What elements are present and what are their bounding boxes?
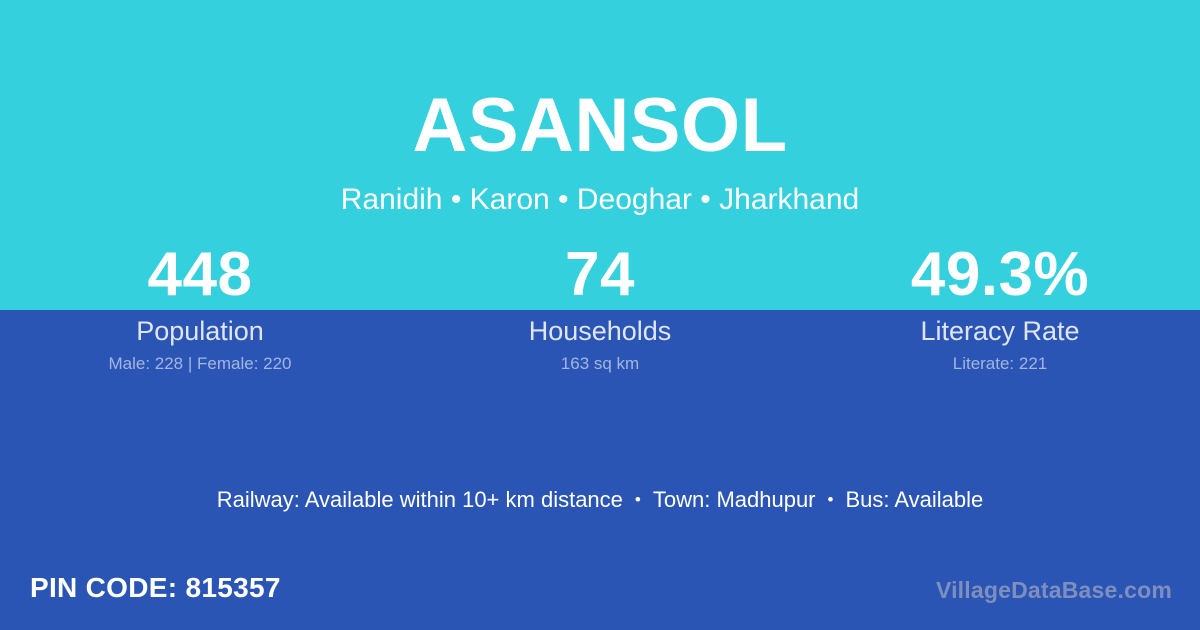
- stat-value: 448: [0, 240, 400, 310]
- stat-literacy-rate: 49.3% Literacy Rate Literate: 221: [800, 240, 1200, 375]
- card-footer: PIN CODE: 815357 VillageDataBase.com: [0, 566, 1200, 630]
- stat-sublabel: Male: 228 | Female: 220: [0, 353, 400, 375]
- amenity-railway: Railway: Available within 10+ km distanc…: [217, 487, 623, 512]
- statistics-row: 448 Population Male: 228 | Female: 220 7…: [0, 240, 1200, 375]
- brand-watermark: VillageDataBase.com: [936, 575, 1172, 605]
- pin-code-label: PIN CODE: 815357: [30, 571, 281, 605]
- bullet-separator-icon: •: [623, 490, 653, 509]
- bullet-separator-icon: •: [816, 490, 846, 509]
- stat-sublabel: Literate: 221: [800, 353, 1200, 375]
- breadcrumb: Ranidih • Karon • Deoghar • Jharkhand: [0, 181, 1200, 219]
- stat-value: 74: [400, 240, 800, 310]
- page-title: ASANSOL: [0, 82, 1200, 170]
- village-info-card: ASANSOL Ranidih • Karon • Deoghar • Jhar…: [0, 0, 1200, 630]
- stat-value: 49.3%: [800, 240, 1200, 310]
- stat-population: 448 Population Male: 228 | Female: 220: [0, 240, 400, 375]
- stat-label: Literacy Rate: [800, 315, 1200, 347]
- stat-label: Population: [0, 315, 400, 347]
- amenity-bus: Bus: Available: [845, 487, 983, 512]
- stat-households: 74 Households 163 sq km: [400, 240, 800, 375]
- stat-label: Households: [400, 315, 800, 347]
- stat-sublabel: 163 sq km: [400, 353, 800, 375]
- amenities-row: Railway: Available within 10+ km distanc…: [0, 485, 1200, 515]
- amenity-town: Town: Madhupur: [653, 487, 816, 512]
